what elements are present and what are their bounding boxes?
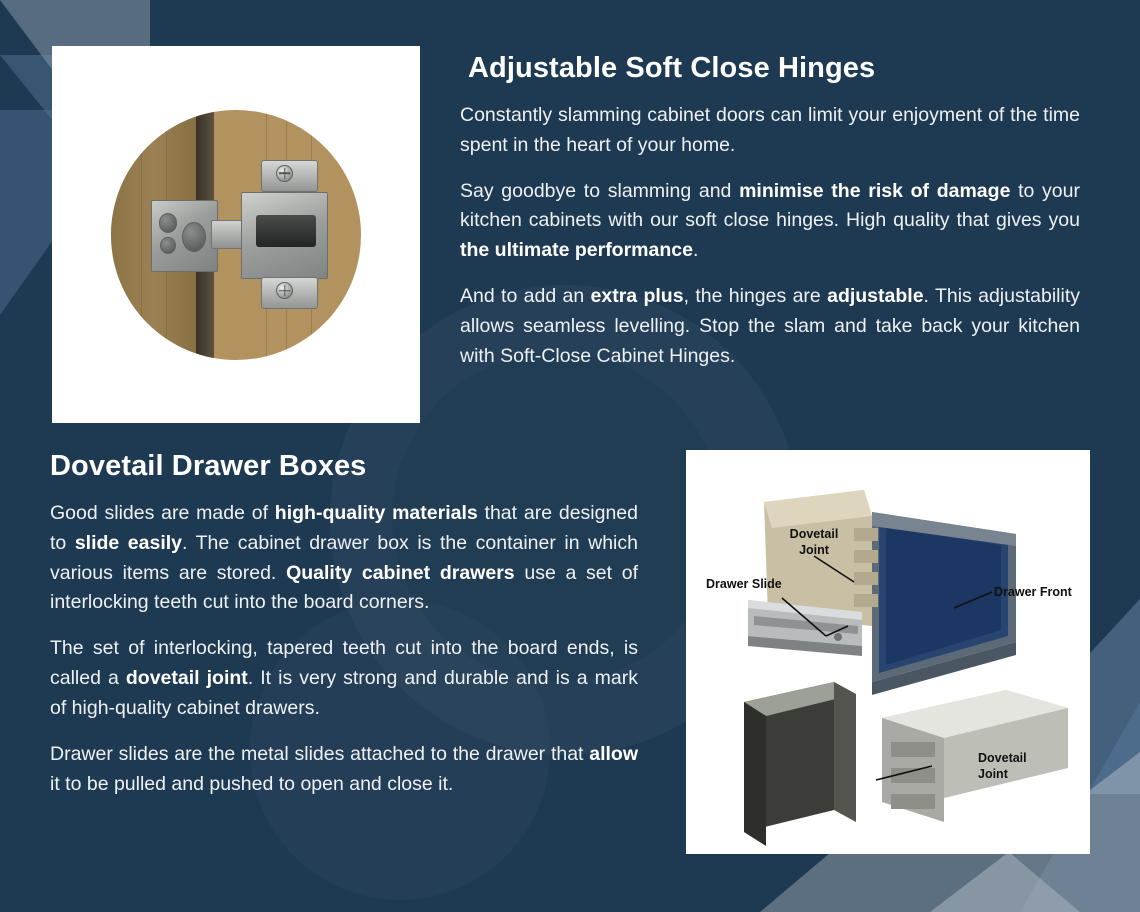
text-run: , the hinges are bbox=[684, 285, 828, 307]
emphasis-text: adjustable bbox=[827, 285, 923, 307]
text-run: Say goodbye to slamming and bbox=[460, 180, 739, 202]
emphasis-text: extra plus bbox=[591, 285, 684, 307]
paragraph: Say goodbye to slamming and minimise the… bbox=[460, 177, 1080, 266]
emphasis-text: Quality cabinet drawers bbox=[286, 562, 515, 584]
hinge-image-card bbox=[52, 46, 420, 423]
screw-icon bbox=[276, 282, 293, 299]
hinges-text-block: Adjustable Soft Close Hinges Constantly … bbox=[460, 52, 1080, 372]
text-run: it to be pulled and pushed to open and c… bbox=[50, 773, 453, 795]
hinges-heading: Adjustable Soft Close Hinges bbox=[468, 52, 1080, 85]
label-drawer-slide: Drawer Slide bbox=[706, 577, 782, 591]
drawers-paragraph-list: Good slides are made of high-quality mat… bbox=[50, 499, 638, 799]
hinge-cup bbox=[151, 200, 218, 272]
emphasis-text: slide easily bbox=[75, 532, 182, 554]
text-run: And to add an bbox=[460, 285, 591, 307]
screw-icon bbox=[276, 165, 293, 182]
text-run: Constantly slamming cabinet doors can li… bbox=[460, 104, 1080, 156]
text-run: . bbox=[693, 239, 698, 261]
emphasis-text: the ultimate performance bbox=[460, 239, 693, 261]
drawer-diagram-card: Drawer Slide DovetailJoint Drawer Front … bbox=[686, 450, 1090, 854]
paragraph: The set of interlocking, tapered teeth c… bbox=[50, 634, 638, 723]
emphasis-text: high-quality materials bbox=[275, 502, 478, 524]
hinge-damper bbox=[256, 215, 316, 248]
emphasis-text: dovetail joint bbox=[126, 667, 248, 689]
paragraph: Good slides are made of high-quality mat… bbox=[50, 499, 638, 618]
slide-canvas: Adjustable Soft Close Hinges Constantly … bbox=[0, 0, 1140, 912]
drawers-text-block: Dovetail Drawer Boxes Good slides are ma… bbox=[50, 450, 638, 799]
text-run: Drawer slides are the metal slides attac… bbox=[50, 743, 589, 765]
drawers-heading: Dovetail Drawer Boxes bbox=[50, 450, 638, 483]
paragraph: Drawer slides are the metal slides attac… bbox=[50, 740, 638, 800]
paragraph: And to add an extra plus, the hinges are… bbox=[460, 282, 1080, 371]
emphasis-text: allow bbox=[589, 743, 638, 765]
drawer-diagram: Drawer Slide DovetailJoint Drawer Front … bbox=[686, 450, 1090, 854]
text-run: Good slides are made of bbox=[50, 502, 275, 524]
emphasis-text: minimise the risk of damage bbox=[739, 180, 1010, 202]
paragraph: Constantly slamming cabinet doors can li… bbox=[460, 101, 1080, 161]
hinge-photo bbox=[111, 110, 361, 360]
hinges-paragraph-list: Constantly slamming cabinet doors can li… bbox=[460, 101, 1080, 372]
label-drawer-front: Drawer Front bbox=[994, 585, 1073, 599]
